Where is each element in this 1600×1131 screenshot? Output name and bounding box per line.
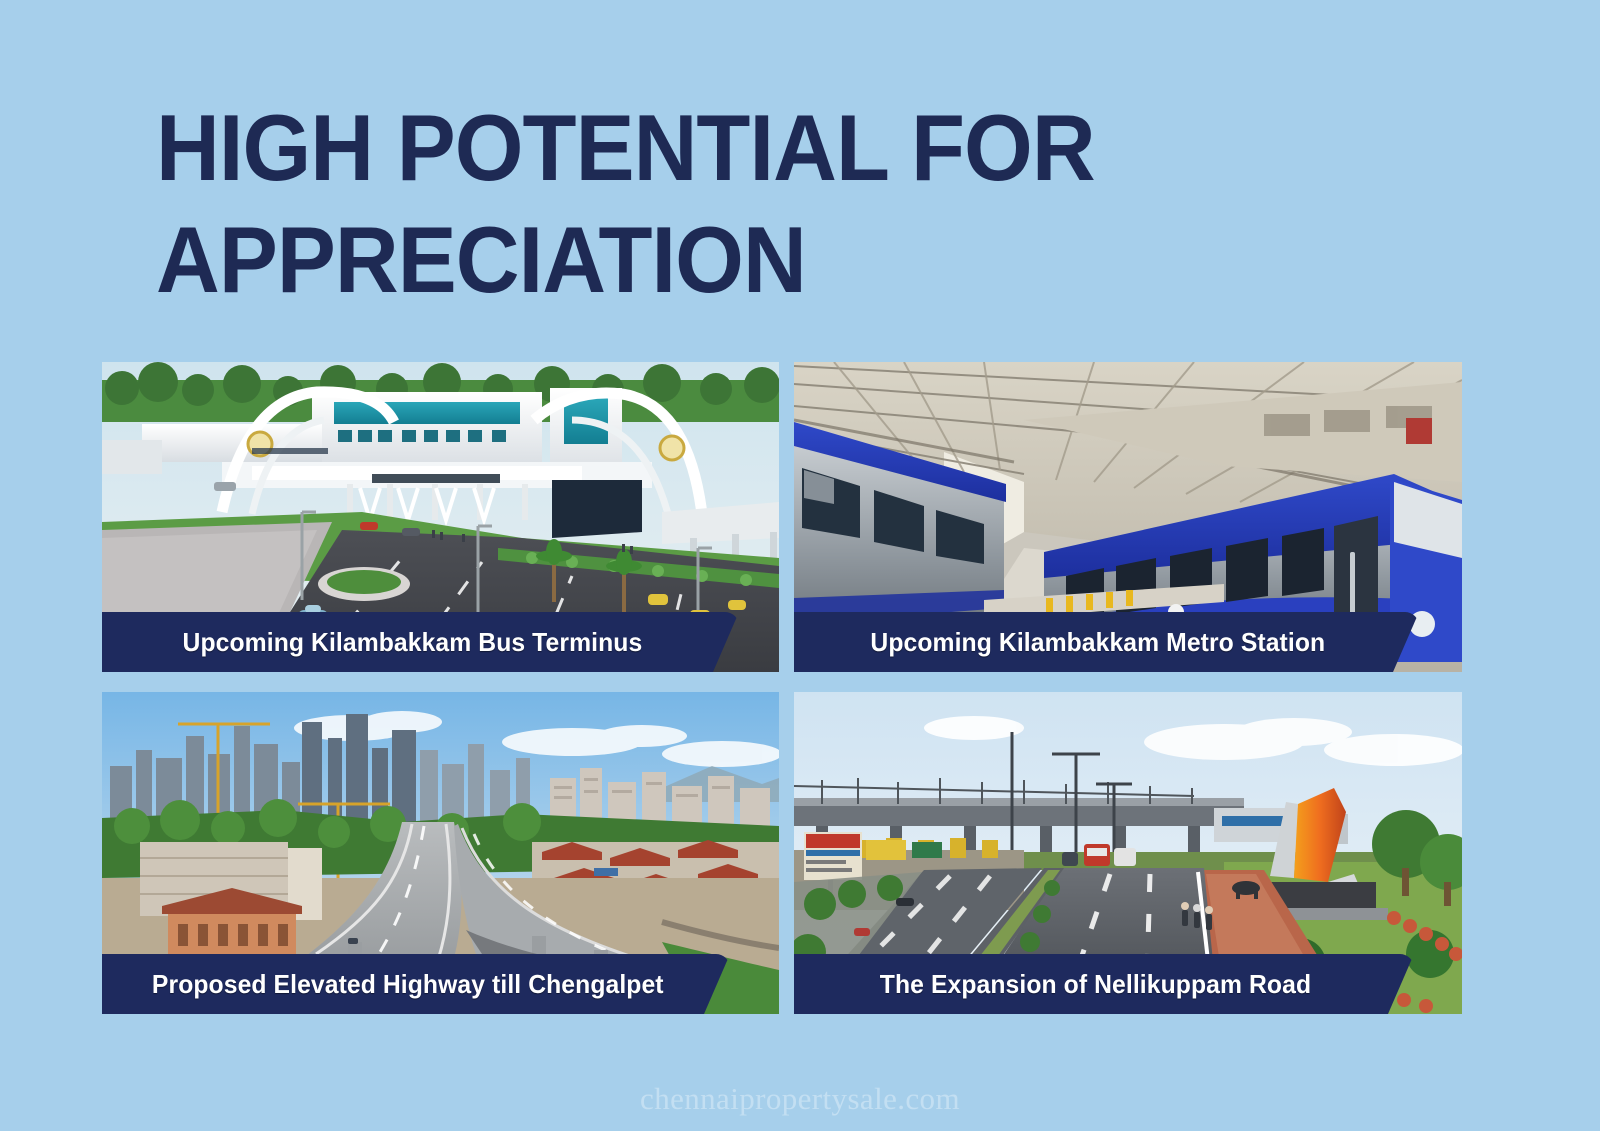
highlight-card-grid: Upcoming Kilambakkam Bus Terminus (102, 362, 1462, 1014)
caption-label: The Expansion of Nellikuppam Road (880, 969, 1328, 1000)
caption-label: Proposed Elevated Highway till Chengalpe… (152, 969, 681, 1000)
card-nellikuppam-road-expansion[interactable]: The Expansion of Nellikuppam Road (794, 692, 1462, 1014)
page-title-line-1: HIGH POTENTIAL FOR (156, 92, 1152, 204)
card-caption-bus-terminus: Upcoming Kilambakkam Bus Terminus (102, 612, 739, 672)
site-watermark: chennaipropertysale.com (0, 1081, 1600, 1117)
caption-label: Upcoming Kilambakkam Metro Station (871, 627, 1343, 658)
card-caption-nellikuppam-road: The Expansion of Nellikuppam Road (794, 954, 1414, 1014)
page-title: HIGH POTENTIAL FOR APPRECIATION (156, 92, 1216, 316)
card-elevated-highway-chengalpet[interactable]: Proposed Elevated Highway till Chengalpe… (102, 692, 779, 1014)
page-title-line-2: APPRECIATION (156, 204, 1152, 316)
card-caption-metro-station: Upcoming Kilambakkam Metro Station (794, 612, 1419, 672)
caption-label: Upcoming Kilambakkam Bus Terminus (182, 627, 659, 658)
card-kilambakkam-bus-terminus[interactable]: Upcoming Kilambakkam Bus Terminus (102, 362, 779, 672)
card-caption-elevated-highway: Proposed Elevated Highway till Chengalpe… (102, 954, 730, 1014)
card-kilambakkam-metro-station[interactable]: Upcoming Kilambakkam Metro Station (794, 362, 1462, 672)
